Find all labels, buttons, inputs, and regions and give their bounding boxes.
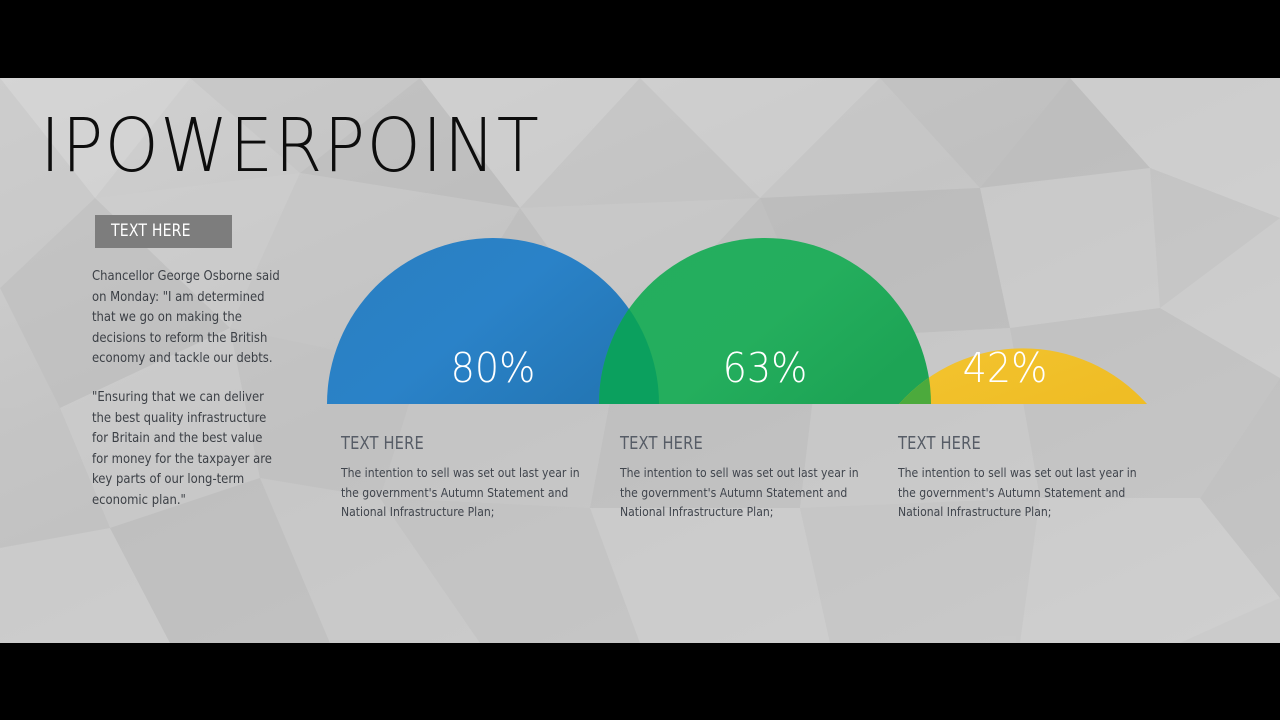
column-2: TEXT HERE The intention to sell was set … [620, 433, 882, 522]
column-2-heading: TEXT HERE [620, 433, 864, 455]
semicircle-chart: 80% 63% 42% [327, 238, 1147, 404]
column-3: TEXT HERE The intention to sell was set … [898, 433, 1160, 522]
column-1: TEXT HERE The intention to sell was set … [341, 433, 603, 522]
column-1-body: The intention to sell was set out last y… [341, 463, 593, 522]
column-2-body: The intention to sell was set out last y… [620, 463, 872, 522]
page-title: IPOWERPOINT [40, 103, 540, 189]
column-group: TEXT HERE The intention to sell was set … [0, 433, 1280, 563]
column-3-heading: TEXT HERE [898, 433, 1142, 455]
left-section-badge: TEXT HERE [95, 215, 232, 248]
column-1-heading: TEXT HERE [341, 433, 585, 455]
arc-value-green: 63% [708, 346, 821, 390]
left-paragraph-1: Chancellor George Osborne said on Monday… [92, 266, 282, 369]
slide-canvas: IPOWERPOINT TEXT HERE Chancellor George … [0, 78, 1280, 643]
column-3-body: The intention to sell was set out last y… [898, 463, 1150, 522]
left-section-badge-label: TEXT HERE [111, 221, 191, 242]
letterbox-bottom [0, 643, 1280, 720]
letterbox-top [0, 0, 1280, 78]
arc-value-yellow: 42% [948, 346, 1061, 390]
presentation-slide: IPOWERPOINT TEXT HERE Chancellor George … [0, 0, 1280, 720]
arc-value-blue: 80% [436, 346, 549, 390]
